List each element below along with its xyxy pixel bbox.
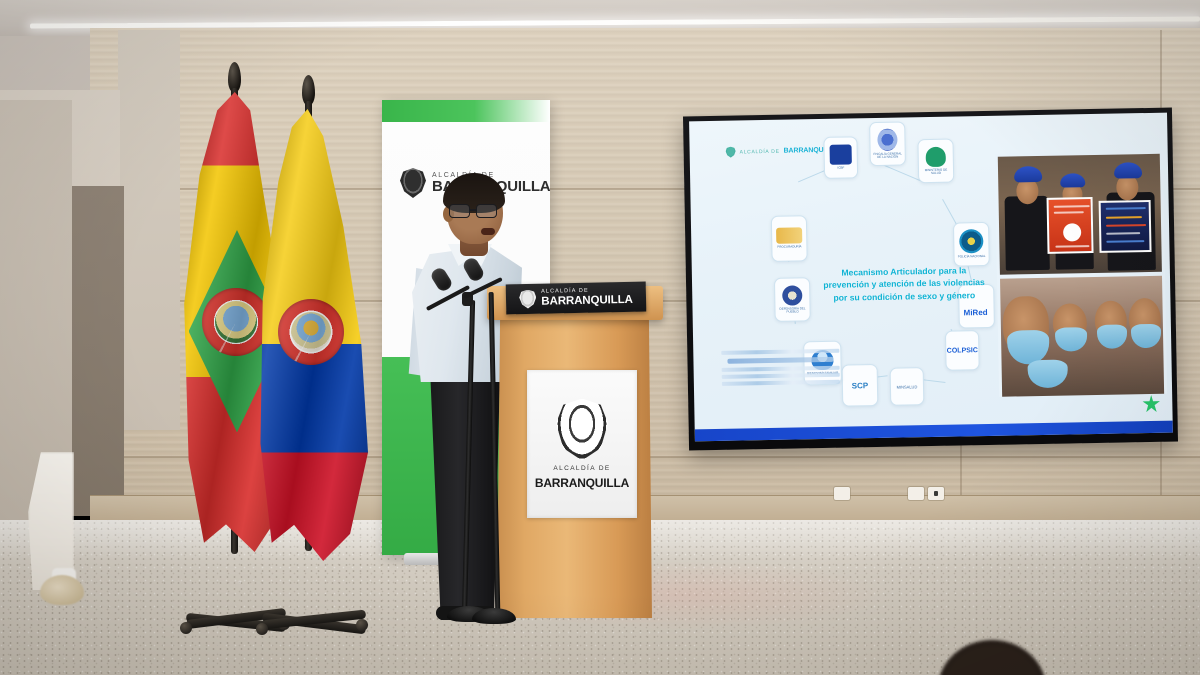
slide-header-prefix: ALCALDÍA DE	[740, 148, 780, 155]
podium-sign: ALCALDÍA DE BARRANQUILLA	[506, 282, 647, 315]
wall-recess-left	[72, 186, 124, 516]
photo-community	[1000, 276, 1164, 397]
presentation-room-scene: ALCALDÍA DE BARRANQUILLA ALCALDÍA DE BAR…	[0, 0, 1200, 675]
flag-stand-wheel	[356, 619, 368, 631]
logo-card[interactable]: MINISTERIO DE SALUD	[917, 139, 954, 184]
slide-photo-group	[995, 151, 1167, 397]
microphone-base	[472, 608, 516, 624]
logo-card[interactable]: PROCURADURÍA	[771, 215, 808, 262]
logo-caption: SCP	[852, 381, 869, 390]
photo-campaign	[998, 154, 1162, 275]
flag-colombia	[252, 75, 370, 535]
podium-plaque: ALCALDÍA DE BARRANQUILLA	[527, 370, 637, 518]
logo-caption: MiRed	[964, 307, 988, 316]
flag-stand-wheel	[256, 623, 268, 635]
slide-header-logo: ALCALDÍA DE BARRANQUILLA	[726, 145, 839, 158]
logo-caption: MINSALUD	[895, 385, 920, 390]
slide-canvas: ALCALDÍA DE BARRANQUILLA ICBF FISCALÍA G…	[689, 113, 1173, 442]
coat-of-arms-icon	[400, 168, 426, 198]
logo-caption: FISCALÍA GENERAL DE LA NACIÓN	[871, 152, 905, 159]
slide-bottom-band	[695, 421, 1173, 442]
glasses-icon	[449, 204, 503, 218]
podium-plaque-name: BARRANQUILLA	[535, 476, 629, 490]
speaker-mouth	[481, 228, 495, 235]
coat-of-arms-icon	[726, 147, 736, 158]
logo-caption: PROCURADURÍA	[775, 246, 803, 250]
presentation-screen[interactable]: ALCALDÍA DE BARRANQUILLA ICBF FISCALÍA G…	[683, 108, 1178, 451]
logo-card[interactable]: POLICÍA NACIONAL	[953, 222, 990, 267]
logo-caption: DEFENSORÍA DEL PUEBLO	[775, 307, 809, 314]
wall-corner	[118, 30, 180, 430]
foreground-person-shoe	[40, 575, 84, 605]
star-icon	[1142, 395, 1160, 413]
podium-sign-name: BARRANQUILLA	[541, 294, 633, 308]
logo-caption: MINISTERIO DE SALUD	[919, 168, 953, 175]
logo-card[interactable]: COLPSIC	[945, 330, 980, 371]
logo-card[interactable]: FISCALÍA GENERAL DE LA NACIÓN	[869, 121, 906, 166]
coat-of-arms-icon	[556, 399, 608, 461]
logo-caption: ICBF	[836, 167, 847, 171]
wall-outlet	[834, 487, 850, 500]
coat-of-arms-icon	[519, 289, 536, 308]
slide-center-text: Mecanismo Articulador para la prevención…	[819, 264, 990, 304]
podium-plaque-prefix: ALCALDÍA DE	[553, 465, 610, 472]
logo-card[interactable]: ICBF	[823, 136, 858, 179]
logo-card[interactable]: MINSALUD	[890, 367, 925, 406]
wall-outlet	[928, 487, 944, 500]
flag-stand-wheel	[180, 622, 192, 634]
diagram-connector	[882, 164, 923, 182]
logo-card[interactable]: DEFENSORÍA DEL PUEBLO	[774, 277, 811, 322]
logo-caption: COLPSIC	[947, 347, 978, 355]
banner-accent-top	[382, 100, 550, 122]
slide-footer-partners	[721, 349, 840, 403]
logo-caption: POLICÍA NACIONAL	[956, 255, 988, 259]
wall-outlet	[908, 487, 924, 500]
flag-cloth-colombia	[256, 109, 368, 561]
logo-card[interactable]: SCP	[842, 364, 879, 407]
